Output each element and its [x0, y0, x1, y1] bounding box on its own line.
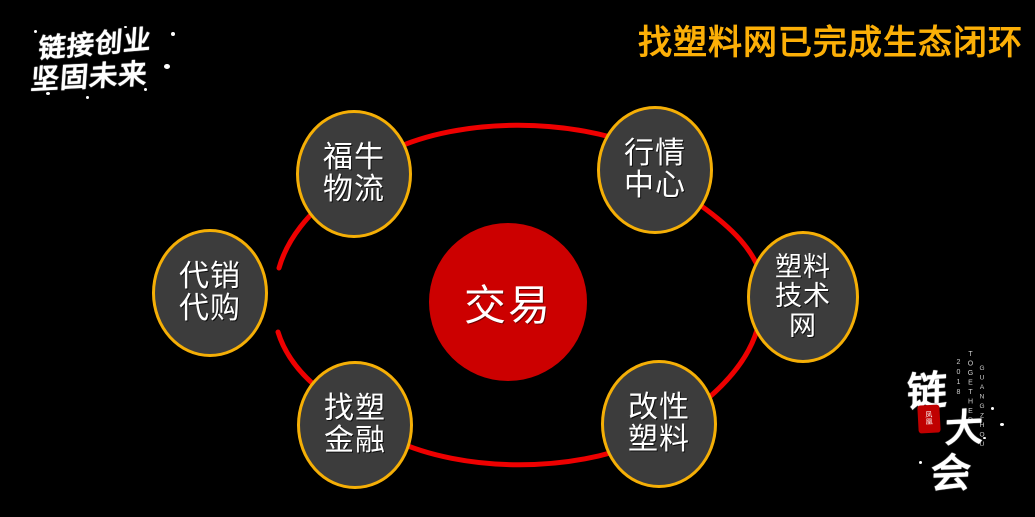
node-finance-label: 找塑 金融	[324, 393, 386, 458]
center-node-label: 交易	[464, 272, 552, 333]
event-logo: TOGETHER 2018 GUANGZHOU 链 大 会 凤 凰	[905, 345, 1030, 513]
event-logo-year: 2018	[955, 359, 962, 399]
ink-spatter-dot	[919, 461, 922, 464]
node-logistics[interactable]: 福牛 物流	[296, 110, 412, 238]
ink-spatter-dot	[1000, 423, 1004, 426]
node-logistics-label: 福牛 物流	[323, 142, 385, 207]
node-finance[interactable]: 找塑 金融	[297, 361, 413, 489]
node-modified-plastics[interactable]: 改性 塑料	[601, 360, 717, 488]
node-agency-sales[interactable]: 代销 代购	[152, 229, 268, 357]
ring-arc-top-right	[700, 205, 760, 272]
node-agency-sales-label: 代销 代购	[179, 261, 241, 326]
node-modified-plastics-label: 改性 塑料	[628, 392, 690, 457]
event-logo-char-3: 会	[929, 440, 972, 500]
node-plastic-tech-label: 塑料 技术 网	[775, 253, 831, 340]
ink-spatter-dot	[991, 407, 994, 410]
center-node-transaction[interactable]: 交易	[429, 223, 587, 381]
ink-spatter-dot	[983, 437, 986, 439]
node-market-center[interactable]: 行情 中心	[597, 106, 713, 234]
node-market-center-label: 行情 中心	[624, 138, 686, 203]
node-plastic-tech[interactable]: 塑料 技术 网	[747, 231, 859, 363]
ink-spatter-dot	[965, 471, 968, 474]
presentation-slide: 链接创业 坚固未来 找塑料网已完成生态闭环 交易	[0, 0, 1035, 517]
ecosystem-diagram: 交易 福牛 物流 行情 中心 塑料 技术 网 改性 塑料 找塑 金融 代销 代购	[0, 0, 1035, 517]
event-logo-seal: 凤 凰	[917, 404, 940, 433]
